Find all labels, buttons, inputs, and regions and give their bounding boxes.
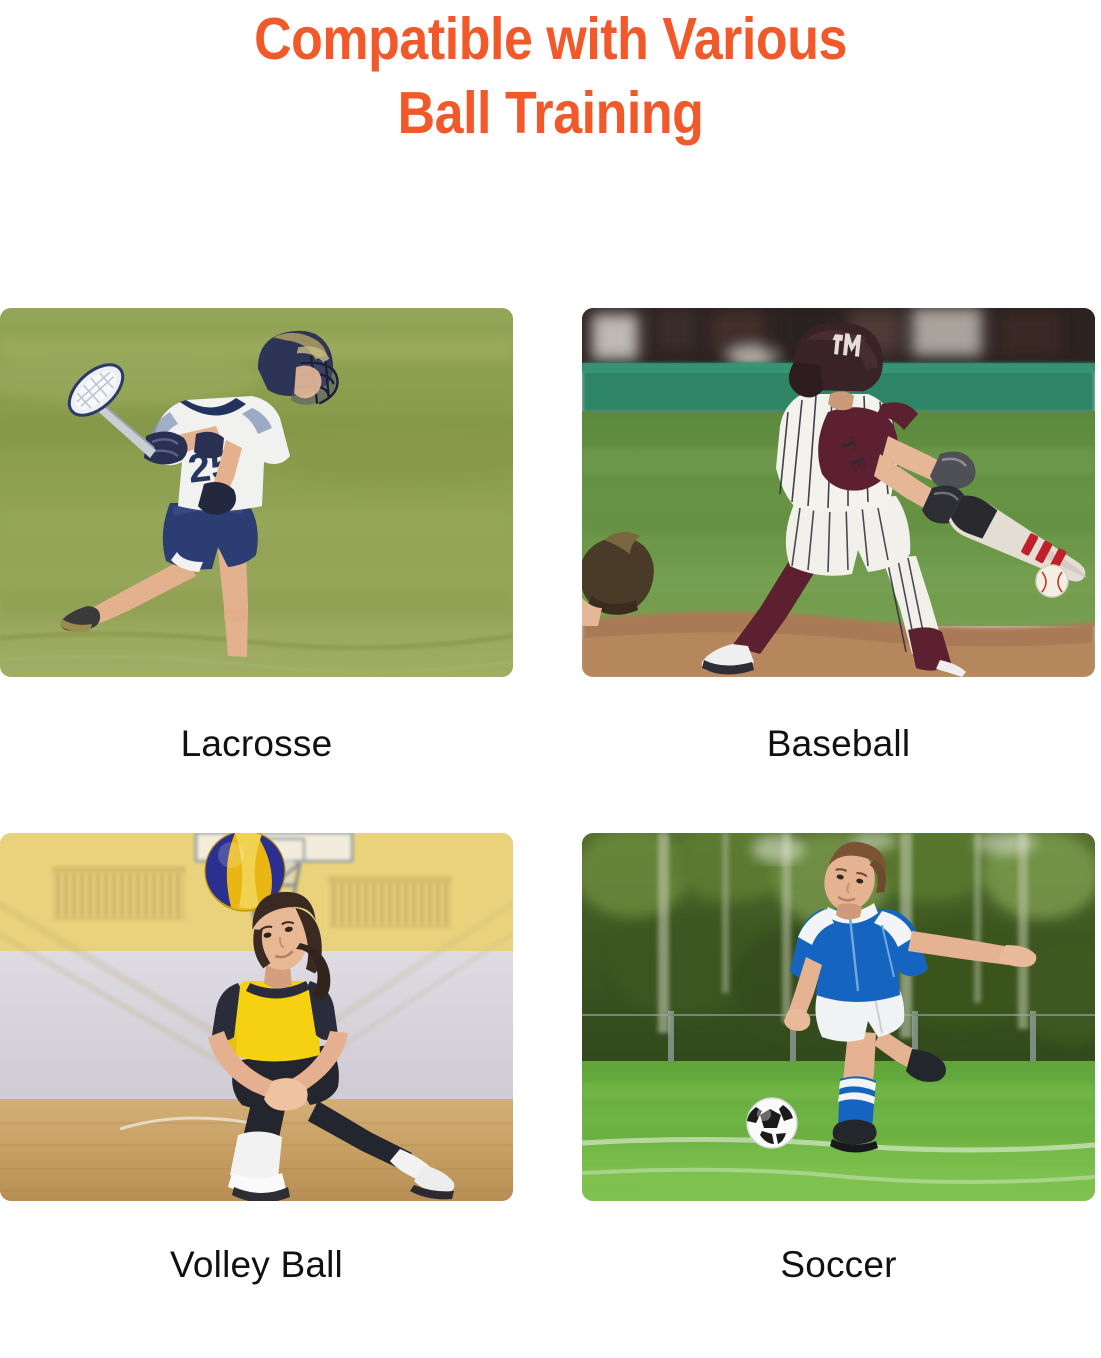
caption-volleyball: Volley Ball: [0, 1243, 513, 1287]
page-title-line-1: Compatible with Various: [66, 2, 1035, 76]
caption-baseball: Baseball: [582, 722, 1095, 766]
baseball-photo: T E: [582, 308, 1095, 677]
page-title-line-2: Ball Training: [66, 76, 1035, 150]
sports-grid-row-2: Volley Ball: [0, 833, 1101, 1358]
sport-card-baseball: T E: [582, 308, 1095, 766]
baseball-illustration: T E: [582, 308, 1095, 677]
volleyball-illustration: [0, 833, 513, 1201]
caption-lacrosse: Lacrosse: [0, 722, 513, 766]
radiator-left: [52, 866, 186, 921]
sport-card-volleyball: Volley Ball: [0, 833, 513, 1287]
lacrosse-photo: 25: [0, 308, 513, 677]
page-title: Compatible with Various Ball Training: [0, 2, 1101, 150]
sports-grid: 25: [0, 308, 1101, 1358]
caption-soccer: Soccer: [582, 1243, 1095, 1287]
soccer-ball: [747, 1098, 797, 1148]
radiator-right: [328, 876, 452, 929]
soccer-photo: [582, 833, 1095, 1201]
volleyball-photo: [0, 833, 513, 1201]
soccer-illustration: [582, 833, 1095, 1201]
sport-card-lacrosse: 25: [0, 308, 513, 766]
lacrosse-illustration: 25: [0, 308, 513, 677]
sport-card-soccer: Soccer: [582, 833, 1095, 1287]
baseball-ball: [1036, 565, 1068, 597]
sports-grid-row-1: 25: [0, 308, 1101, 833]
